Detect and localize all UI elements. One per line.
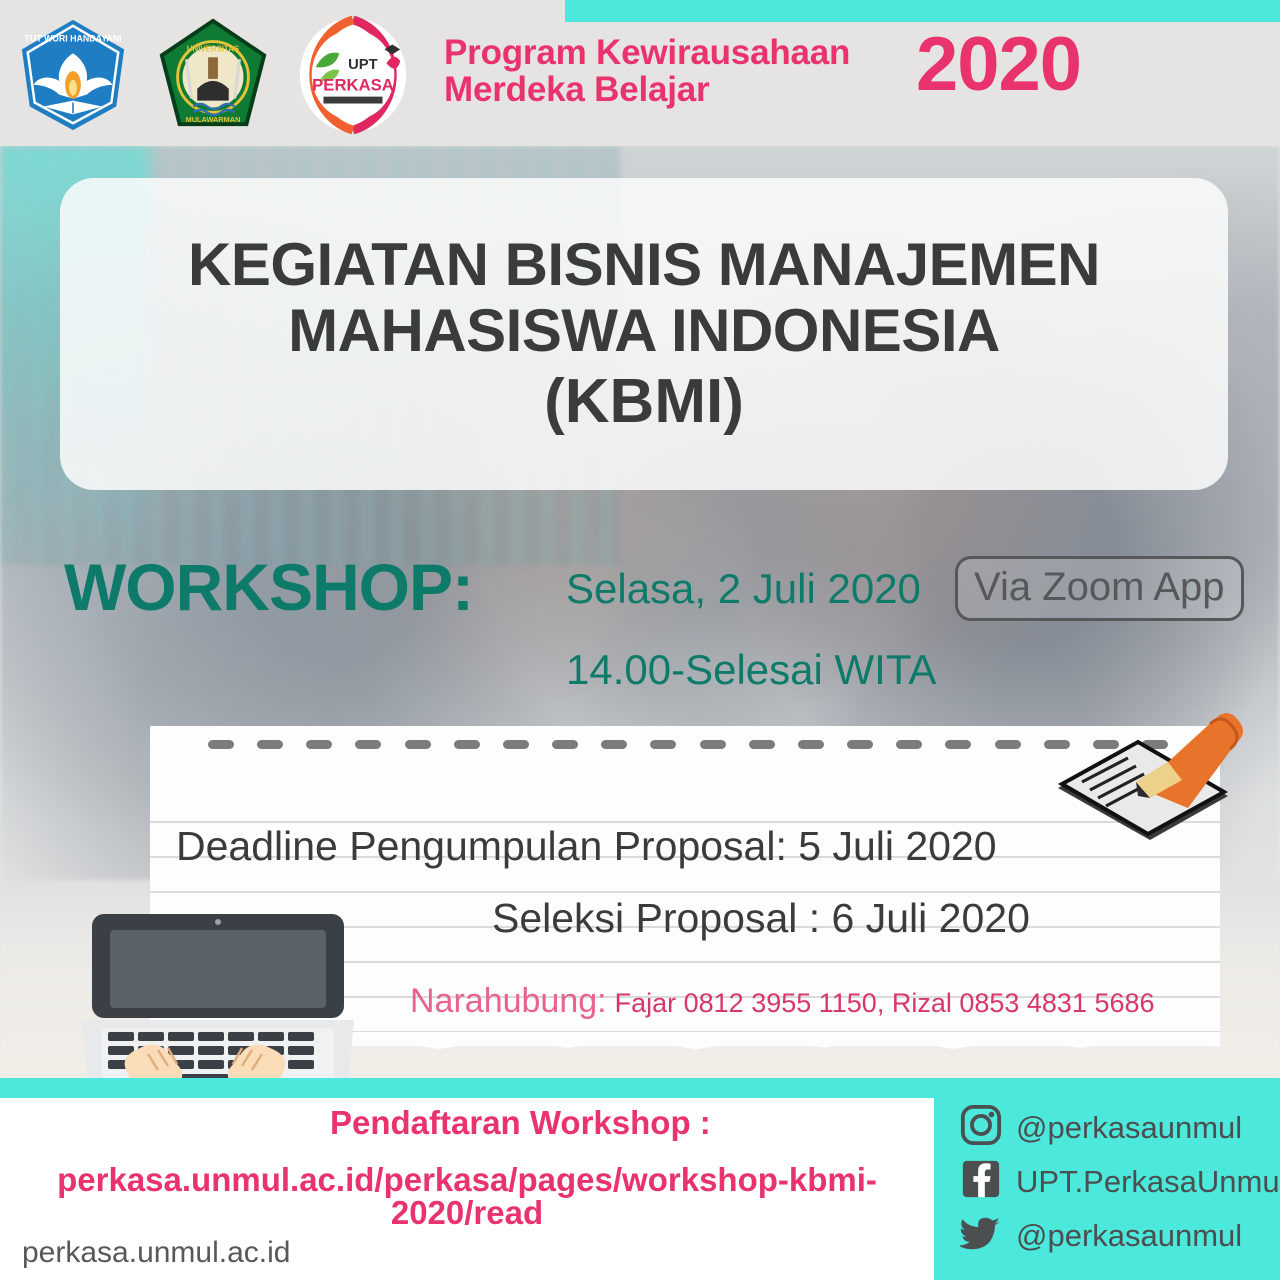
program-title-line1: Program Kewirausahaan bbox=[444, 34, 850, 71]
instagram-icon bbox=[960, 1104, 1002, 1151]
twitter-icon bbox=[960, 1212, 1002, 1259]
header-teal-accent-bar bbox=[565, 0, 1280, 22]
twitter-handle: @perkasaunmul bbox=[1016, 1220, 1242, 1251]
pencil-writing-icon bbox=[1040, 700, 1260, 850]
svg-text:UNIVERSITAS: UNIVERSITAS bbox=[187, 44, 239, 53]
footer-website: perkasa.unmul.ac.id bbox=[22, 1238, 290, 1268]
tut-wuri-handayani-logo: TUT WURI HANDAYANI bbox=[14, 16, 132, 134]
facebook-handle: UPT.PerkasaUnmul bbox=[1016, 1166, 1280, 1197]
event-title-abbreviation: (KBMI) bbox=[544, 368, 744, 436]
event-title-line1: KEGIATAN BISNIS MANAJEMEN bbox=[188, 232, 1100, 298]
workshop-section: WORKSHOP: Selasa, 2 Juli 2020 14.00-Sele… bbox=[0, 552, 1280, 712]
registration-title: Pendaftaran Workshop : bbox=[330, 1106, 934, 1139]
program-title-line2: Merdeka Belajar bbox=[444, 71, 850, 108]
workshop-date: Selasa, 2 Juli 2020 bbox=[566, 568, 921, 610]
program-title: Program Kewirausahaan Merdeka Belajar bbox=[444, 34, 850, 108]
header-band: TUT WURI HANDAYANI UNIVERSITAS bbox=[0, 0, 1280, 146]
logo-group: TUT WURI HANDAYANI UNIVERSITAS bbox=[14, 16, 412, 134]
poster-root: TUT WURI HANDAYANI UNIVERSITAS bbox=[0, 0, 1280, 1280]
upt-perkasa-logo: UPT PERKASA bbox=[294, 16, 412, 134]
contact-label: Narahubung: bbox=[410, 984, 607, 1018]
notepad-perforations bbox=[208, 740, 1168, 752]
svg-text:PERKASA: PERKASA bbox=[312, 76, 394, 95]
svg-text:MULAWARMAN: MULAWARMAN bbox=[186, 115, 241, 124]
event-title-line2: MAHASISWA INDONESIA bbox=[288, 298, 1000, 364]
social-row-twitter[interactable]: @perkasaunmul bbox=[960, 1208, 1280, 1262]
contact-numbers: Fajar 0812 3955 1150, Rizal 0853 4831 56… bbox=[615, 990, 1155, 1017]
workshop-time: 14.00-Selesai WITA bbox=[566, 649, 936, 691]
svg-text:UPT: UPT bbox=[348, 57, 378, 73]
event-title-card: KEGIATAN BISNIS MANAJEMEN MAHASISWA INDO… bbox=[60, 178, 1228, 490]
universitas-mulawarman-logo: UNIVERSITAS MULAWARMAN bbox=[154, 16, 272, 134]
program-year: 2020 bbox=[916, 27, 1081, 103]
platform-badge: Via Zoom App bbox=[955, 556, 1244, 621]
facebook-icon bbox=[960, 1158, 1002, 1205]
registration-block: Pendaftaran Workshop : perkasa.unmul.ac.… bbox=[0, 1106, 934, 1216]
registration-url[interactable]: perkasa.unmul.ac.id/perkasa/pages/worksh… bbox=[0, 1163, 934, 1229]
deadline-proposal-text: Deadline Pengumpulan Proposal: 5 Juli 20… bbox=[176, 826, 997, 867]
social-row-instagram[interactable]: @perkasaunmul bbox=[960, 1100, 1280, 1154]
instagram-handle: @perkasaunmul bbox=[1016, 1112, 1242, 1143]
seleksi-proposal-text: Seleksi Proposal : 6 Juli 2020 bbox=[492, 898, 1030, 939]
social-media-panel: @perkasaunmul UPT.PerkasaUnmul @perkasau… bbox=[934, 1078, 1280, 1280]
svg-text:TUT WURI HANDAYANI: TUT WURI HANDAYANI bbox=[24, 34, 121, 44]
contact-row: Narahubung: Fajar 0812 3955 1150, Rizal … bbox=[410, 984, 1155, 1018]
workshop-label: WORKSHOP: bbox=[64, 554, 473, 620]
social-row-facebook[interactable]: UPT.PerkasaUnmul bbox=[960, 1154, 1280, 1208]
